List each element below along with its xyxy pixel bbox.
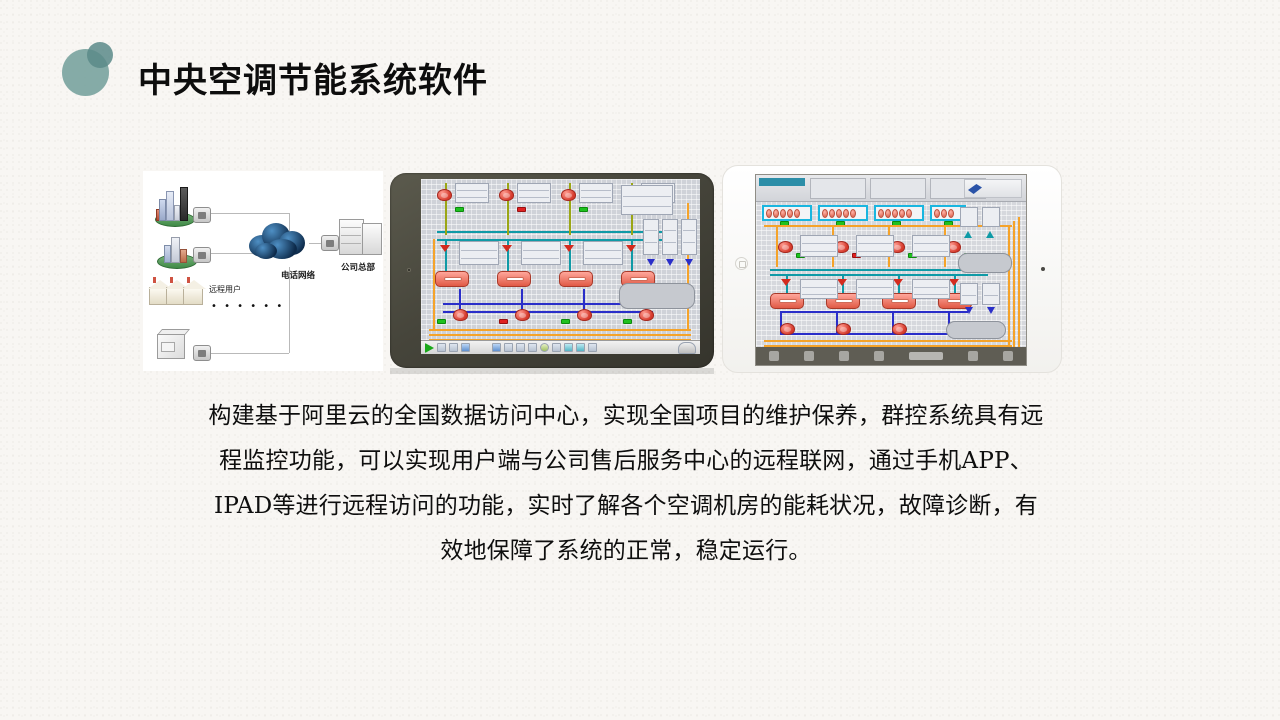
valve-icon[interactable]	[781, 279, 791, 286]
figure-strip: 电话网络 远程用户 • • • • • • 公司总部	[0, 160, 1280, 382]
copy-icon[interactable]	[492, 343, 501, 352]
open-icon[interactable]	[437, 343, 446, 352]
status-led-off	[517, 207, 526, 212]
data-panel[interactable]	[856, 235, 894, 257]
pipe-chilled-return	[780, 311, 968, 313]
scada-header-bar	[756, 175, 1026, 202]
node-houses	[149, 279, 207, 305]
house-icon	[183, 287, 203, 305]
settings-icon[interactable]	[968, 351, 978, 361]
pipe-cooling-water	[1013, 221, 1015, 349]
label-ellipsis: • • • • • •	[211, 301, 284, 312]
equipment-chilled-pump[interactable]	[453, 309, 468, 321]
data-panel[interactable]	[521, 241, 561, 265]
data-panel[interactable]	[982, 207, 1000, 227]
logo-circle-small-icon	[87, 42, 113, 68]
minimize-icon[interactable]	[1003, 351, 1013, 361]
trend-icon[interactable]	[564, 343, 573, 352]
status-led-on	[455, 207, 464, 212]
data-panel[interactable]	[912, 235, 950, 257]
node-building-tall	[153, 189, 197, 229]
equipment-chilled-pump[interactable]	[639, 309, 654, 321]
pipe-cooling-water	[429, 329, 691, 331]
front-camera-icon	[407, 268, 411, 272]
modem-icon	[193, 345, 211, 361]
equipment-chilled-pump[interactable]	[892, 323, 907, 335]
back-icon[interactable]	[804, 351, 814, 361]
data-panel[interactable]	[856, 279, 894, 299]
redo-icon[interactable]	[516, 343, 525, 352]
server-drive-slot	[161, 342, 175, 352]
print-icon[interactable]	[461, 343, 470, 352]
data-panel[interactable]	[621, 185, 673, 215]
equipment-chiller[interactable]	[559, 271, 593, 287]
valve-icon[interactable]	[949, 279, 959, 286]
app-toolbar[interactable]	[421, 340, 700, 354]
ipad-browser-toolbar[interactable]	[756, 347, 1026, 365]
header-table-cell	[870, 178, 926, 199]
data-panel[interactable]	[643, 219, 659, 255]
pipe-cooling-water	[429, 334, 691, 336]
data-panel[interactable]	[455, 183, 489, 203]
label-telephone-network: 电话网络	[281, 269, 315, 281]
equipment-tank[interactable]	[946, 321, 1006, 339]
pipe-cooling-water	[433, 239, 435, 331]
header-table-cell	[810, 178, 866, 199]
brand-logo	[60, 35, 140, 115]
data-panel[interactable]	[800, 235, 838, 257]
equipment-tank[interactable]	[619, 283, 695, 309]
status-led-on	[437, 319, 446, 324]
rack-unit	[362, 223, 382, 255]
system-title-tag	[759, 178, 805, 186]
rack-unit	[339, 219, 364, 255]
page-title: 中央空调节能系统软件	[138, 58, 488, 104]
data-panel[interactable]	[960, 207, 978, 227]
valve-icon[interactable]	[837, 279, 847, 286]
pipe-chilled-return	[443, 311, 653, 313]
label-remote-users: 远程用户	[209, 284, 241, 295]
status-led-on	[561, 319, 570, 324]
network-topology-diagram: 电话网络 远程用户 • • • • • • 公司总部	[143, 171, 383, 371]
help-icon[interactable]	[588, 343, 597, 352]
status-led-off	[499, 319, 508, 324]
flow-arrow-icon	[647, 259, 655, 266]
zoom-icon[interactable]	[528, 343, 537, 352]
equipment-chilled-pump[interactable]	[780, 323, 795, 335]
equipment-tank[interactable]	[958, 253, 1012, 273]
flow-arrow-icon	[666, 259, 674, 266]
pipe-cooling-water	[764, 340, 1012, 342]
data-panel[interactable]	[583, 241, 623, 265]
equipment-cooling-pump[interactable]	[778, 241, 793, 253]
undo-icon[interactable]	[504, 343, 513, 352]
scada-mimic-screen[interactable]	[421, 179, 700, 354]
data-panel[interactable]	[912, 279, 950, 299]
label-headquarters: 公司总部	[341, 261, 375, 273]
valve-icon[interactable]	[893, 279, 903, 286]
equipment-chilled-pump[interactable]	[836, 323, 851, 335]
telephone-network-cloud-icon	[247, 219, 309, 263]
tower-segment	[180, 249, 187, 263]
ipad-scada[interactable]	[722, 165, 1062, 373]
equipment-cooling-tower-bank[interactable]	[818, 205, 868, 221]
flow-arrow-icon	[986, 231, 994, 238]
equipment-cooling-pump[interactable]	[437, 189, 452, 201]
description-paragraph: 构建基于阿里云的全国数据访问中心，实现全国项目的维护保养，群控系统具有远程监控功…	[206, 394, 1046, 574]
front-camera-icon	[1041, 267, 1045, 271]
flow-arrow-icon	[685, 259, 693, 266]
tower-segment	[159, 199, 166, 221]
url-bar[interactable]	[909, 352, 943, 360]
tower-segment	[171, 237, 180, 263]
pipe-cooling-water	[1008, 225, 1010, 347]
equipment-cooling-pump[interactable]	[561, 189, 576, 201]
node-server	[157, 329, 191, 359]
equipment-chiller[interactable]	[770, 293, 804, 309]
equipment-cooling-pump[interactable]	[499, 189, 514, 201]
link-line	[205, 353, 289, 354]
phone-screen[interactable]	[421, 179, 700, 354]
data-panel[interactable]	[459, 241, 499, 265]
pipe-chilled-supply	[437, 231, 677, 233]
close-icon[interactable]	[769, 351, 779, 361]
equipment-cooling-tower-bank[interactable]	[874, 205, 924, 221]
network-diagram-canvas: 电话网络 远程用户 • • • • • • 公司总部	[143, 171, 383, 371]
equipment-chilled-pump[interactable]	[577, 309, 592, 321]
device-shadow	[390, 368, 714, 374]
data-panel[interactable]	[681, 219, 697, 255]
valve-icon[interactable]	[502, 245, 512, 252]
settings-icon[interactable]	[540, 343, 549, 352]
save-icon[interactable]	[449, 343, 458, 352]
equipment-chiller[interactable]	[435, 271, 469, 287]
play-icon[interactable]	[425, 343, 434, 353]
home-button[interactable]	[735, 257, 748, 270]
data-panel[interactable]	[517, 183, 551, 203]
modem-icon	[321, 235, 339, 251]
data-panel[interactable]	[982, 283, 1000, 305]
alarm-icon[interactable]	[552, 343, 561, 352]
status-led-on	[623, 319, 632, 324]
flow-arrow-icon	[964, 231, 972, 238]
company-logo-icon	[964, 179, 1022, 198]
equipment-cooling-tower-bank[interactable]	[762, 205, 812, 221]
valve-icon[interactable]	[626, 245, 636, 252]
data-panel[interactable]	[662, 219, 678, 255]
refresh-icon[interactable]	[839, 351, 849, 361]
valve-icon[interactable]	[440, 245, 450, 252]
data-panel[interactable]	[960, 283, 978, 305]
modem-icon	[193, 207, 211, 223]
valve-icon[interactable]	[564, 245, 574, 252]
pipe-cooling-water	[1018, 217, 1020, 351]
report-icon[interactable]	[576, 343, 585, 352]
android-phone-scada[interactable]	[390, 173, 714, 368]
flow-arrow-icon	[987, 307, 995, 314]
scada-mimic-screen[interactable]	[756, 175, 1026, 365]
status-led-on	[579, 207, 588, 212]
tools-icon[interactable]	[874, 351, 884, 361]
ipad-screen[interactable]	[755, 174, 1027, 366]
flow-arrow-icon	[965, 307, 973, 314]
link-line	[205, 213, 289, 214]
tower-segment	[166, 191, 174, 221]
data-panel[interactable]	[579, 183, 613, 203]
tower-segment	[180, 187, 188, 221]
data-panel[interactable]	[800, 279, 838, 299]
equipment-chilled-pump[interactable]	[515, 309, 530, 321]
pipe-chilled-supply	[770, 269, 988, 271]
node-headquarters-rack	[339, 215, 383, 257]
equipment-chiller[interactable]	[497, 271, 531, 287]
tower-segment	[164, 245, 171, 263]
modem-icon	[193, 247, 211, 263]
exit-icon[interactable]	[678, 342, 696, 354]
